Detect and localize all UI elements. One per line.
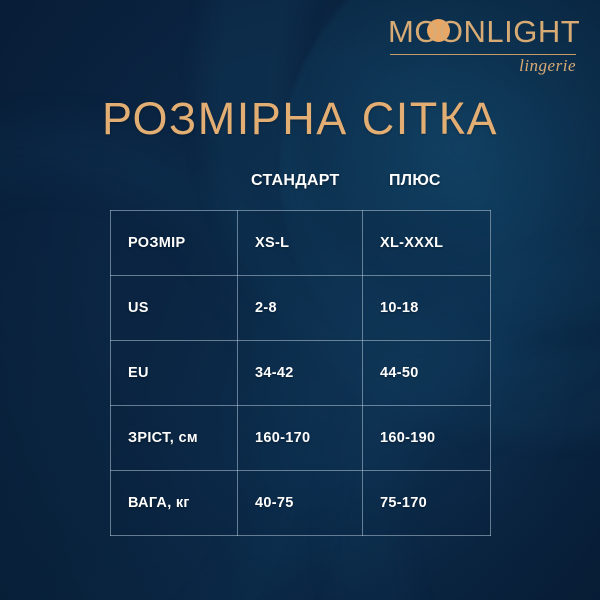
table-row: ЗРІСТ, см 160-170 160-190	[111, 406, 491, 471]
row-label: РОЗМІР	[111, 211, 238, 276]
size-chart-poster: MOONLIGHT lingerie РОЗМІРНА СІТКА СТАНДА…	[0, 0, 600, 600]
group-header-standard: СТАНДАРТ	[251, 172, 340, 190]
row-standard: 2-8	[238, 276, 363, 341]
row-label: EU	[111, 341, 238, 406]
row-standard: 34-42	[238, 341, 363, 406]
row-plus: 75-170	[363, 471, 491, 536]
table-row: ВАГА, кг 40-75 75-170	[111, 471, 491, 536]
brand-logo: MOONLIGHT lingerie	[388, 14, 578, 76]
brand-divider	[390, 54, 576, 55]
row-label: ЗРІСТ, см	[111, 406, 238, 471]
row-plus: 10-18	[363, 276, 491, 341]
row-label: ВАГА, кг	[111, 471, 238, 536]
row-plus: XL-XXXL	[363, 211, 491, 276]
row-standard: 40-75	[238, 471, 363, 536]
row-standard: XS-L	[238, 211, 363, 276]
page-title: РОЗМІРНА СІТКА	[0, 93, 600, 145]
brand-tagline: lingerie	[519, 56, 576, 76]
row-standard: 160-170	[238, 406, 363, 471]
table-row: US 2-8 10-18	[111, 276, 491, 341]
size-table: РОЗМІР XS-L XL-XXXL US 2-8 10-18 EU 34-4…	[110, 210, 491, 536]
row-plus: 160-190	[363, 406, 491, 471]
row-label: US	[111, 276, 238, 341]
table-group-headers: СТАНДАРТ ПЛЮС	[237, 172, 490, 198]
brand-wordmark: MOONLIGHT	[388, 14, 578, 50]
row-plus: 44-50	[363, 341, 491, 406]
table-row: EU 34-42 44-50	[111, 341, 491, 406]
table-row: РОЗМІР XS-L XL-XXXL	[111, 211, 491, 276]
group-header-plus: ПЛЮС	[389, 172, 441, 190]
brand-name: MOONLIGHT	[388, 14, 578, 50]
